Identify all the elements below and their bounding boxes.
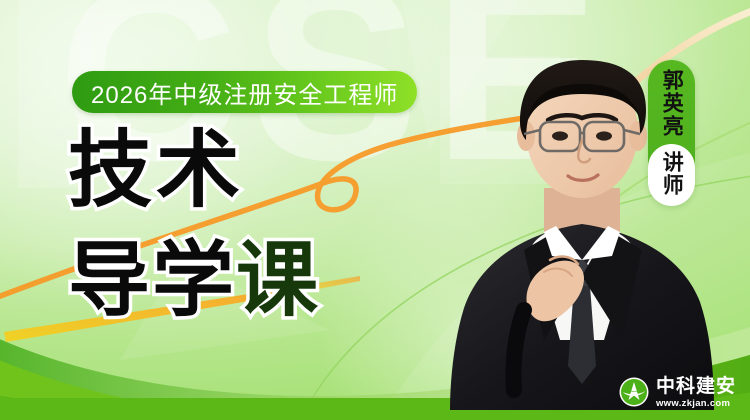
zkjan-circle-logo-icon: [619, 377, 649, 407]
headline-char-2: 学: [152, 235, 236, 326]
brand-text-block: 中科建安 www.zkjan.com: [656, 377, 736, 409]
headline-char-1: 导: [68, 235, 152, 326]
instructor-role: 讲师: [660, 151, 684, 197]
course-category-badge: 2026年中级注册安全工程师: [72, 71, 417, 113]
instructor-badge: 郭英亮 讲师: [648, 60, 695, 206]
headline-char-3: 课: [236, 235, 320, 326]
brand-url: www.zkjan.com: [656, 399, 736, 409]
course-poster: CSE: [0, 0, 750, 420]
brand-name: 中科建安: [656, 377, 736, 396]
headline-primary: 技术: [68, 128, 244, 212]
brand-logo: 中科建安 www.zkjan.com: [619, 377, 736, 409]
headline-secondary: 导学课: [68, 240, 320, 322]
course-category-label: 2026年中级注册安全工程师: [91, 75, 398, 110]
instructor-name: 郭英亮: [660, 69, 684, 144]
instructor-role-chip: 讲师: [648, 144, 695, 206]
